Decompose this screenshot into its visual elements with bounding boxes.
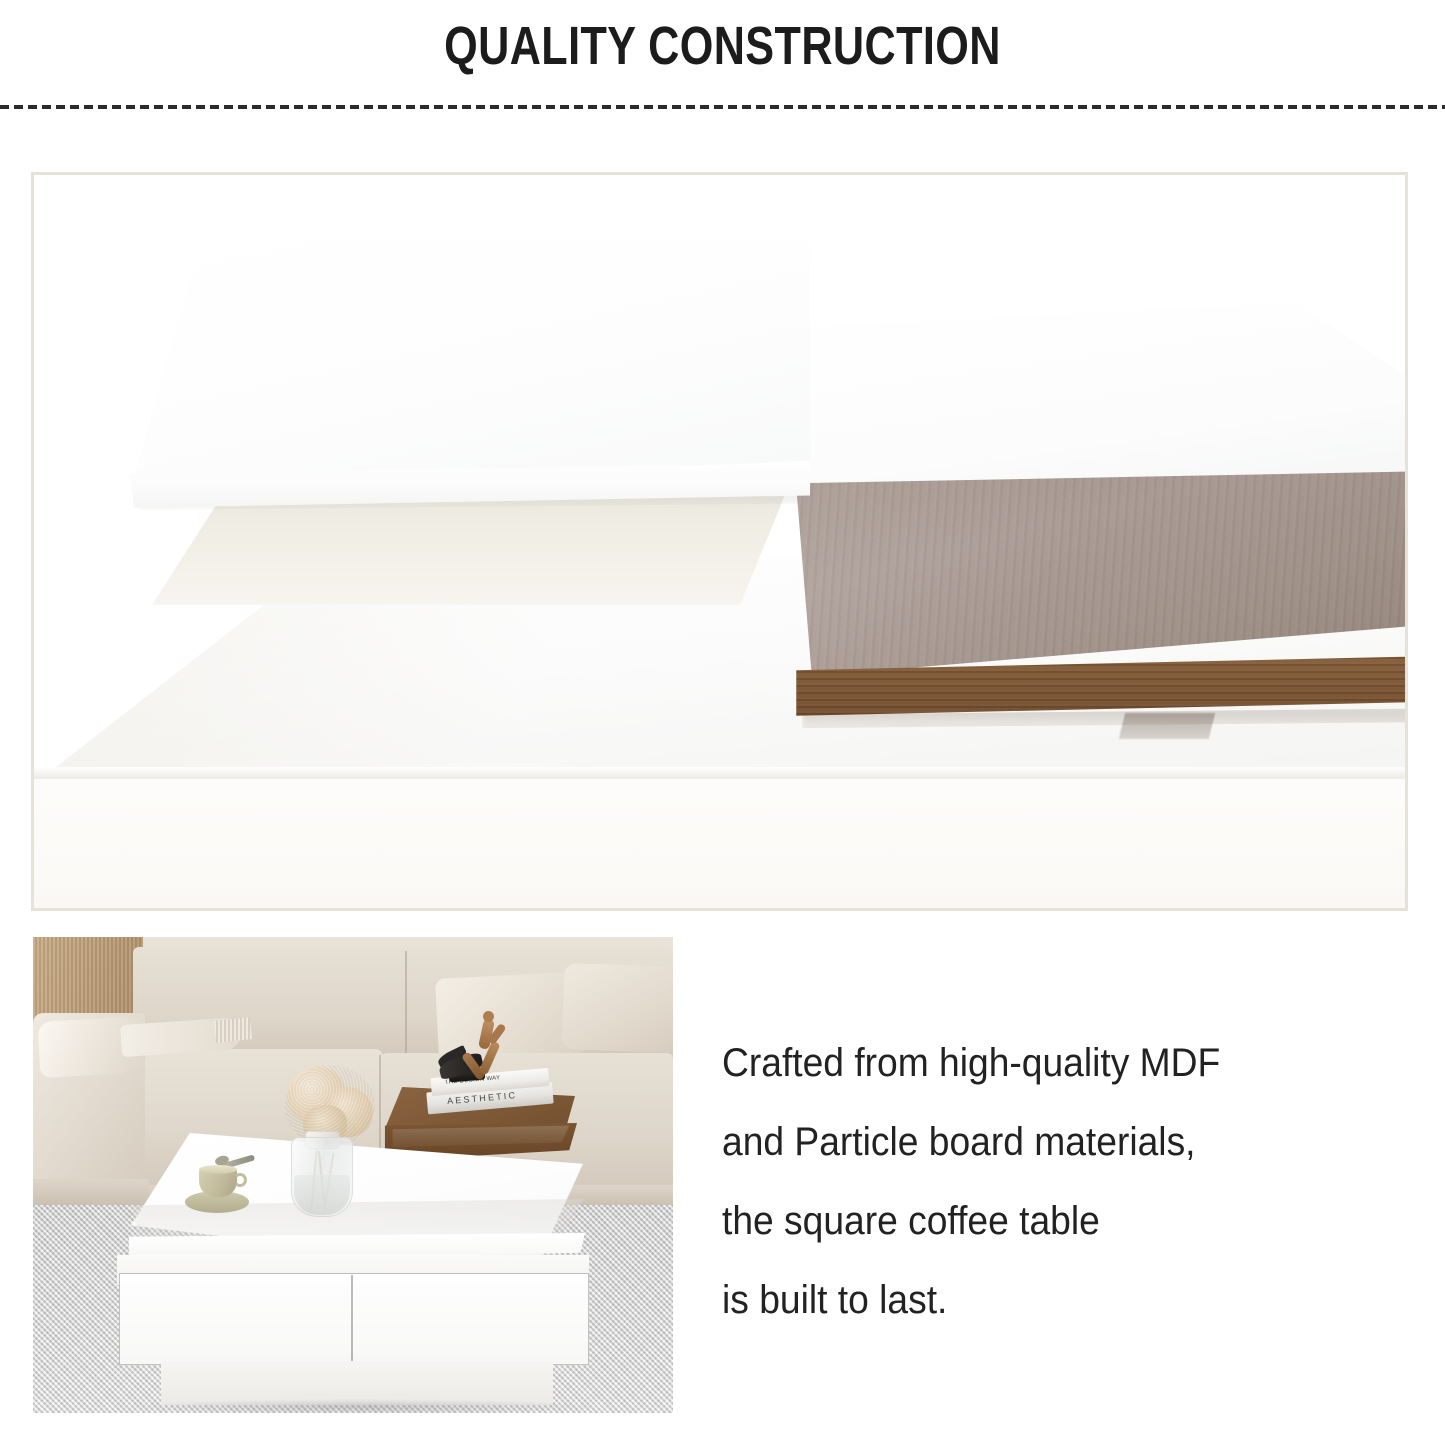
sofa-pillow-right [562, 963, 673, 1053]
page-header: QUALITY CONSTRUCTION [0, 0, 1445, 108]
glass-vase-water [294, 1175, 350, 1215]
copy-line-4: is built to last. [722, 1261, 1317, 1340]
figurine-head [483, 1011, 494, 1022]
throw-blanket-fringe [214, 1017, 252, 1043]
copy-line-2: and Particle board materials, [722, 1103, 1317, 1182]
base-cabinet-front-panel [31, 779, 1408, 911]
copy-line-1: Crafted from high-quality MDF [722, 1024, 1317, 1103]
coffee-table-drawer-divider [351, 1275, 353, 1363]
sofa-arm-base [33, 1179, 149, 1205]
page-title: QUALITY CONSTRUCTION [145, 16, 1301, 76]
coffee-cup-rim [199, 1165, 237, 1174]
hero-product-image [31, 172, 1408, 911]
sofa-backrest-seam [405, 951, 407, 1059]
coffee-table-drawer-row [119, 1273, 589, 1365]
coffee-cup-handle [233, 1173, 247, 1187]
coffee-table-floor-shadow [125, 1399, 595, 1413]
hero-stage [34, 175, 1405, 908]
walnut-slide-panel [792, 471, 1408, 721]
walnut-panel-sheen [792, 471, 1408, 676]
white-sliding-top-face [130, 239, 810, 491]
header-divider [0, 105, 1445, 109]
marketing-copy: Crafted from high-quality MDF and Partic… [722, 1024, 1362, 1340]
white-sliding-top-panel [130, 239, 810, 544]
copy-line-3: the square coffee table [722, 1182, 1317, 1261]
lifestyle-room-image: AESTHETIC THE DESIGN WAY [33, 937, 673, 1413]
